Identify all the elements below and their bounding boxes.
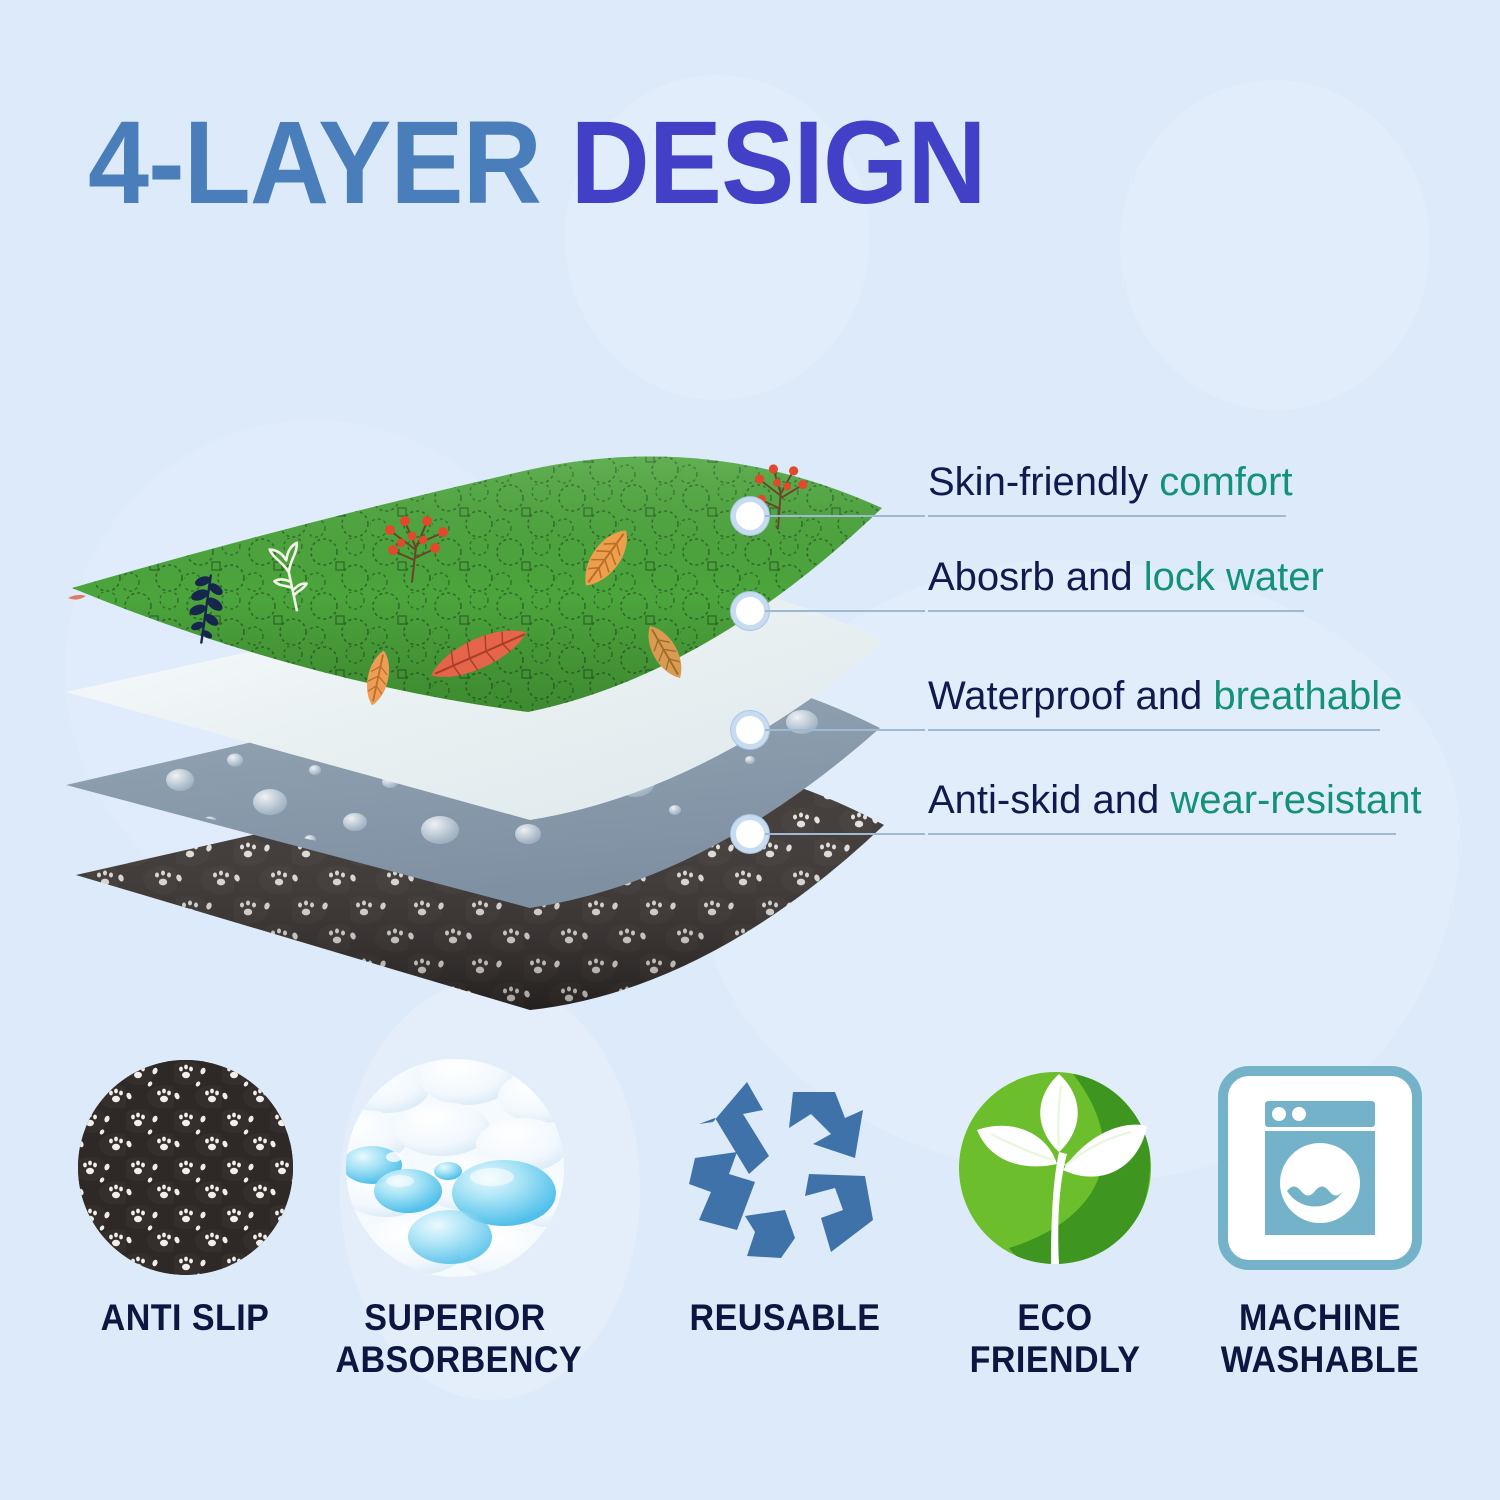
- feature-superior-absorbency-caption: SUPERIOR ABSORBENCY: [335, 1297, 574, 1381]
- feature-superior-absorbency[interactable]: SUPERIOR ABSORBENCY: [325, 1060, 585, 1381]
- infographic-canvas: 4-LAYER DESIGN: [0, 0, 1500, 1500]
- layer-label-3-highlight: breathable: [1213, 674, 1402, 718]
- callout-dot-layer-4[interactable]: [731, 815, 769, 853]
- feature-reusable-caption: REUSABLE: [665, 1297, 904, 1339]
- anti-slip-fabric-swatch-icon: [55, 1060, 315, 1275]
- page-title: 4-LAYER DESIGN: [88, 104, 986, 222]
- feature-anti-slip-caption: ANTI SLIP: [65, 1297, 304, 1339]
- caption-line-1: MACHINE: [1200, 1297, 1439, 1339]
- caption-line-2: ABSORBENCY: [335, 1339, 574, 1381]
- layer-label-2-underline: [928, 610, 1304, 612]
- callout-line-layer-2: [765, 610, 925, 612]
- callout-line-layer-1: [765, 515, 925, 517]
- layer-label-2: Abosrb and lock water: [928, 555, 1324, 600]
- layer-label-1-highlight: comfort: [1159, 460, 1292, 504]
- feature-eco-friendly[interactable]: ECO FRIENDLY: [925, 1060, 1185, 1381]
- callout-dot-layer-3[interactable]: [731, 711, 769, 749]
- feature-machine-washable[interactable]: MACHINE WASHABLE: [1190, 1060, 1450, 1381]
- callout-line-layer-4: [765, 833, 925, 835]
- feature-reusable[interactable]: REUSABLE: [655, 1060, 915, 1339]
- recycle-arrows-icon: [655, 1060, 915, 1275]
- absorbency-bubbles-swatch-icon: [325, 1060, 585, 1275]
- callout-dot-layer-1[interactable]: [731, 497, 769, 535]
- layer-label-2-dark: Abosrb and: [928, 555, 1133, 599]
- feature-machine-washable-caption: MACHINE WASHABLE: [1200, 1297, 1439, 1381]
- feature-strip: ANTI SLIP: [0, 1060, 1500, 1460]
- layer-label-3-dark: Waterproof and: [928, 674, 1202, 718]
- feature-anti-slip[interactable]: ANTI SLIP: [55, 1060, 315, 1339]
- callout-dot-layer-2[interactable]: [731, 592, 769, 630]
- page-title-part-2: DESIGN: [541, 97, 986, 229]
- layer-label-4-underline: [928, 833, 1396, 835]
- layer-label-3-underline: [928, 729, 1380, 731]
- layer-label-1: Skin-friendly comfort: [928, 460, 1293, 505]
- caption-line-2: WASHABLE: [1200, 1339, 1439, 1381]
- layer-label-4: Anti-skid and wear-resistant: [928, 778, 1422, 823]
- eco-plant-leaf-icon: [925, 1060, 1185, 1275]
- callout-line-layer-3: [765, 729, 925, 731]
- layer-label-4-highlight: wear-resistant: [1170, 778, 1421, 822]
- background-blob: [1120, 80, 1430, 410]
- washing-machine-icon: [1190, 1060, 1450, 1275]
- layer-label-2-highlight: lock water: [1144, 555, 1324, 599]
- page-title-part-1: 4-LAYER: [88, 97, 541, 229]
- layer-label-3: Waterproof and breathable: [928, 674, 1402, 719]
- layer-label-1-underline: [928, 515, 1286, 517]
- feature-eco-friendly-caption: ECO FRIENDLY: [935, 1297, 1174, 1381]
- layer-label-4-dark: Anti-skid and: [928, 778, 1159, 822]
- layer-label-1-dark: Skin-friendly: [928, 460, 1148, 504]
- caption-line-1: SUPERIOR: [335, 1297, 574, 1339]
